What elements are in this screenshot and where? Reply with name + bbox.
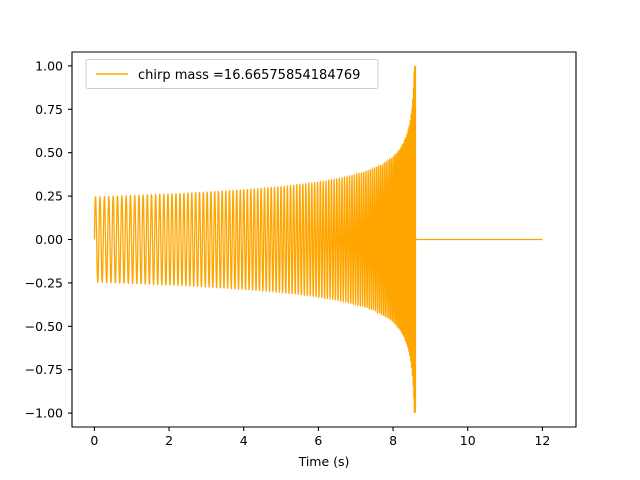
- legend-label: chirp mass =16.66575854184769: [138, 68, 360, 83]
- matplotlib-figure: 024681012 −1.00−0.75−0.50−0.250.000.250.…: [0, 0, 640, 480]
- chirp-waveform-plot: 024681012 −1.00−0.75−0.50−0.250.000.250.…: [0, 0, 640, 480]
- y-tick-label: −0.25: [25, 275, 63, 290]
- y-tick-label: 0.25: [35, 189, 63, 204]
- y-tick-label: 0.50: [35, 145, 63, 160]
- x-axis-label: Time (s): [298, 454, 350, 469]
- x-tick-label: 0: [90, 433, 98, 448]
- x-tick-label: 6: [314, 433, 322, 448]
- y-tick-label: −1.00: [25, 406, 63, 421]
- y-tick-label: −0.75: [25, 362, 63, 377]
- y-tick-label: 0.75: [35, 102, 63, 117]
- x-tick-label: 2: [165, 433, 173, 448]
- y-tick-label: 1.00: [35, 58, 63, 73]
- y-tick-label: 0.00: [35, 232, 63, 247]
- x-tick-label: 8: [389, 433, 397, 448]
- x-tick-label: 4: [240, 433, 248, 448]
- x-tick-label: 10: [460, 433, 476, 448]
- y-tick-label: −0.50: [25, 319, 63, 334]
- plot-area: [72, 52, 576, 427]
- x-tick-label: 12: [534, 433, 550, 448]
- legend[interactable]: chirp mass =16.66575854184769: [86, 60, 378, 89]
